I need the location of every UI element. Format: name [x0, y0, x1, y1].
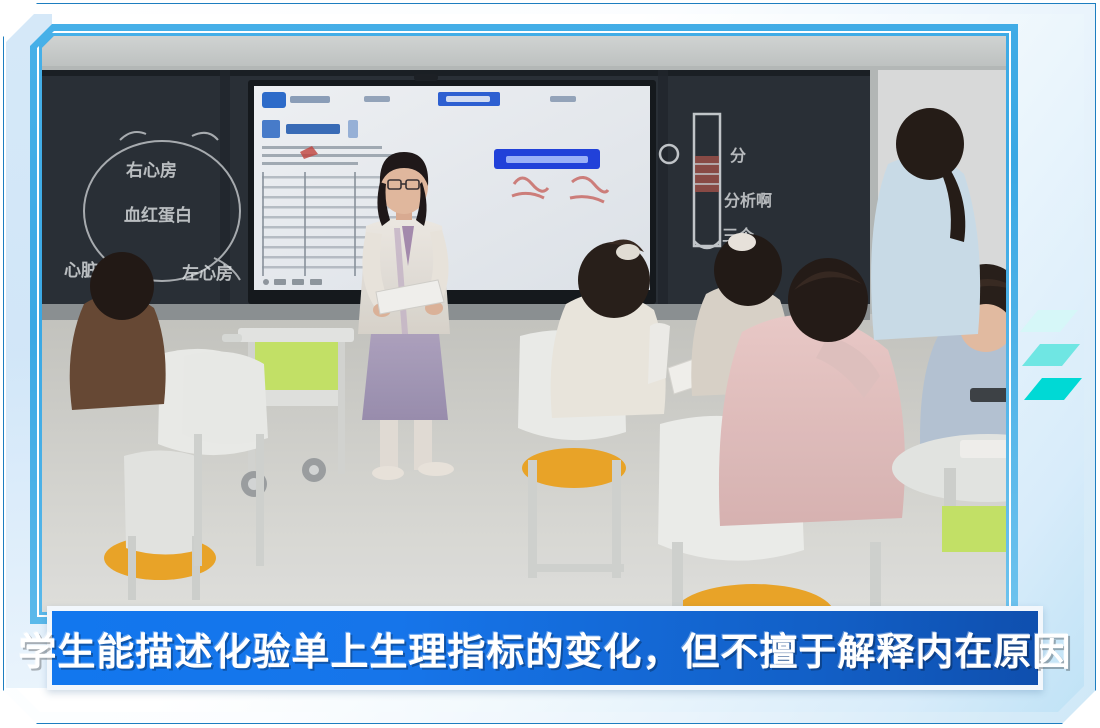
- slide-root: 右心房 血红蛋白 心脏 左心房 分 分析啊 三个: [0, 0, 1100, 728]
- caption-container: 学生能描述化验单上生理指标的变化，但不擅于解释内在原因: [47, 606, 1043, 690]
- classroom-photo-svg: 右心房 血红蛋白 心脏 左心房 分 分析啊 三个: [42, 36, 1006, 612]
- caption-text: 学生能描述化验单上生理指标的变化，但不擅于解释内在原因: [19, 621, 1072, 676]
- classroom-photo: 右心房 血红蛋白 心脏 左心房 分 分析啊 三个: [42, 36, 1006, 612]
- caption-bar: 学生能描述化验单上生理指标的变化，但不擅于解释内在原因: [52, 611, 1038, 685]
